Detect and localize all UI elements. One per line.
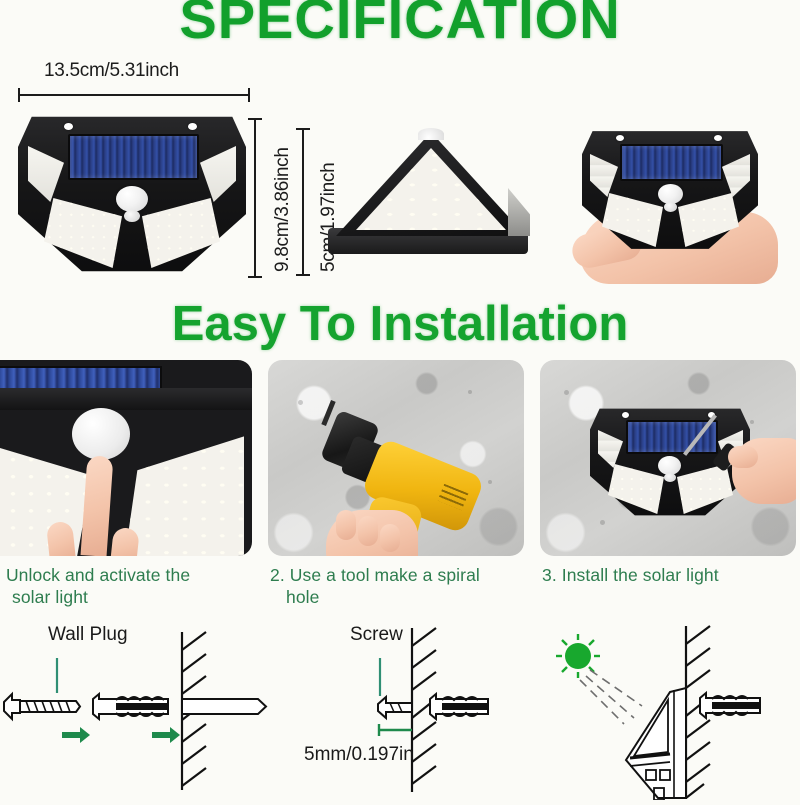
- wall-plug-diagram: Wall Plug: [0, 620, 270, 800]
- motion-sensor-dome: [116, 186, 148, 212]
- wall-plug-icon: [430, 694, 488, 719]
- solar-panel: [68, 134, 199, 180]
- step-caption-2: 2. Use a tool make a spiral hole: [270, 564, 520, 609]
- product-hand-scale-view: [566, 126, 794, 284]
- screw-hole-left-small: [616, 135, 624, 141]
- lamp-triangle-led-face: [356, 148, 506, 230]
- insert-arrow-2: [152, 727, 180, 743]
- photo2-finger-3: [380, 524, 400, 552]
- screw-depth-svg: [270, 620, 540, 800]
- photo3-motion-sensor-base: [664, 473, 676, 482]
- screw-depth-measurement: 5mm/0.197in: [304, 744, 414, 766]
- step-caption-3: 3. Install the solar light: [542, 564, 792, 586]
- motion-sensor-dome-side: [418, 128, 444, 140]
- photo2-finger-2: [358, 516, 378, 546]
- dimension-width-line: [18, 88, 250, 102]
- step-3-line1: Install the solar light: [562, 565, 719, 585]
- screw-icon: [4, 694, 80, 719]
- page-title-specification: SPECIFICATION: [0, 0, 800, 51]
- step-photo-3: [540, 360, 796, 556]
- photo2-finger-1: [336, 510, 356, 540]
- product-front-view-small: [582, 126, 758, 254]
- product-front-view: [18, 110, 246, 278]
- motion-sensor-base-small: [664, 202, 677, 212]
- lamp-edge-highlight: [508, 188, 530, 236]
- motion-sensor-base: [124, 210, 140, 222]
- solar-panel-small: [620, 144, 723, 181]
- step-caption-1: . Unlock and activate the solar light: [0, 564, 246, 609]
- mounted-light-svg: [538, 620, 800, 800]
- screw-hole-right: [188, 123, 197, 130]
- step-1-number: .: [0, 565, 1, 585]
- photo1-housing-top: [0, 388, 252, 410]
- screw-depth-diagram: Screw 5mm/0.197in: [270, 620, 540, 800]
- page-title-installation: Easy To Installation: [0, 296, 800, 352]
- step-1-line1: Unlock and activate the: [6, 565, 190, 585]
- infographic-root: SPECIFICATION 13.5cm/5.31inch 9.8cm/3.86…: [0, 0, 800, 800]
- step-2-line2: hole: [270, 586, 520, 608]
- photo3-screw-hole-left: [622, 412, 629, 418]
- photo1-led-panel-right: [120, 426, 244, 556]
- screw-icon: [378, 697, 412, 718]
- wall-plug-icon: [700, 693, 760, 718]
- insert-arrow-1: [62, 727, 90, 743]
- light-rays: [580, 670, 642, 724]
- step-2-line1: Use a tool make a spiral: [290, 565, 480, 585]
- mounted-lamp-outline: [626, 688, 686, 800]
- mounted-light-diagram: [538, 620, 800, 800]
- wall-plug-svg: [0, 620, 270, 800]
- motion-sensor-dome-small: [658, 184, 683, 204]
- step-photo-2: [268, 360, 524, 556]
- depth-bracket: [379, 724, 412, 736]
- dimension-width-label: 13.5cm/5.31inch: [44, 60, 179, 82]
- screw-label: Screw: [350, 624, 403, 646]
- step-2-number: 2.: [270, 565, 285, 585]
- product-side-view: [322, 128, 538, 260]
- step-photo-1: [0, 360, 252, 556]
- photo1-motion-sensor-dome: [72, 408, 130, 460]
- dimension-depth-line: [296, 128, 310, 276]
- step-1-line2: solar light: [0, 586, 246, 608]
- screw-hole-left: [64, 123, 73, 130]
- photo1-index-finger: [81, 455, 114, 556]
- dimension-height-line: [248, 118, 262, 278]
- wall-plug-icon: [93, 694, 168, 719]
- screw-hole-right-small: [714, 135, 722, 141]
- wall-plug-label: Wall Plug: [48, 624, 128, 646]
- photo1-led-panel-left: [0, 434, 92, 556]
- step-3-number: 3.: [542, 565, 557, 585]
- dimension-height-label: 9.8cm/3.86inch: [272, 147, 294, 272]
- photo3-finger: [728, 446, 758, 468]
